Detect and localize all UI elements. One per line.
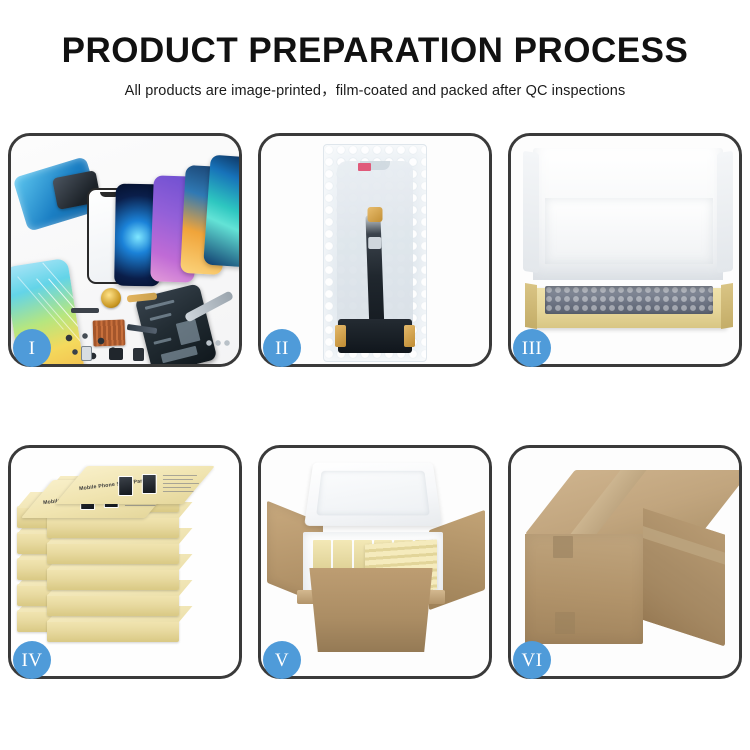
step-6-image [511,448,739,676]
yellow-box-right-2 [47,516,179,538]
page-header: PRODUCT PREPARATION PROCESS All products… [0,0,750,100]
foam-box-lid-icon [304,463,442,526]
speaker-module-icon [109,348,123,360]
carton-front-icon [301,568,441,652]
red-label-tab-icon [358,163,371,171]
box-thumbnail-4 [142,474,157,494]
sim-tray-icon [81,346,92,361]
step-panel-3: III [508,133,742,367]
yellow-box-right-3 [47,542,179,564]
carton-tab-lower-icon [555,612,575,634]
step-badge-1: I [13,329,51,367]
bottom-connector-icon [338,319,412,353]
step-panel-6: VI [508,445,742,679]
bubble-wrap-bag-icon [323,144,427,362]
box-label-text-front: Mobile Phone Spare Parts [79,478,148,492]
yellow-box-right-5 [47,594,179,616]
foam-insert-icon [545,198,713,264]
bubble-wrapped-parts-icon [545,286,713,314]
step-panel-5: V [258,445,492,679]
step-4-image: Mobile Phone Spare Parts Mobile Phone Sp… [11,448,239,676]
step-badge-5: V [263,641,301,679]
step-badge-6: VI [513,641,551,679]
sealed-carton-front-icon [525,534,643,644]
step-badge-3: III [513,329,551,367]
carton-tab-upper-icon [553,536,573,558]
step-3-image [511,136,739,364]
step-panel-4: Mobile Phone Spare Parts Mobile Phone Sp… [8,445,242,679]
yellow-box-lid-front: Mobile Phone Spare Parts [55,466,215,504]
flex-cable-dark-icon [71,308,99,313]
step-panel-1: I [8,133,242,367]
step-badge-2: II [263,329,301,367]
box-spec-lines-front [163,474,205,496]
step-1-image [11,136,239,364]
page-title: PRODUCT PREPARATION PROCESS [0,33,750,70]
box-thumbnail-3 [118,476,133,496]
step-panel-2: II [258,133,492,367]
yellow-box-right-6 [47,620,179,642]
yellow-box-right-4 [47,568,179,590]
step-2-image [261,136,489,364]
driver-chip-icon [368,237,381,249]
screws-icon [205,338,231,348]
page-subtitle: All products are image-printed，film-coat… [0,79,750,100]
process-steps-grid: I II III [8,133,742,693]
box-stack: Mobile Phone Spare Parts Mobile Phone Sp… [15,474,239,664]
gold-contact-pad-icon [368,207,383,222]
step-badge-4: IV [13,641,51,679]
step-5-image [261,448,489,676]
wireless-charging-coil-icon [101,288,121,308]
sealed-carton-side-icon [643,508,725,647]
camera-module-icon [133,348,144,361]
product-preparation-page: PRODUCT PREPARATION PROCESS All products… [0,0,750,750]
